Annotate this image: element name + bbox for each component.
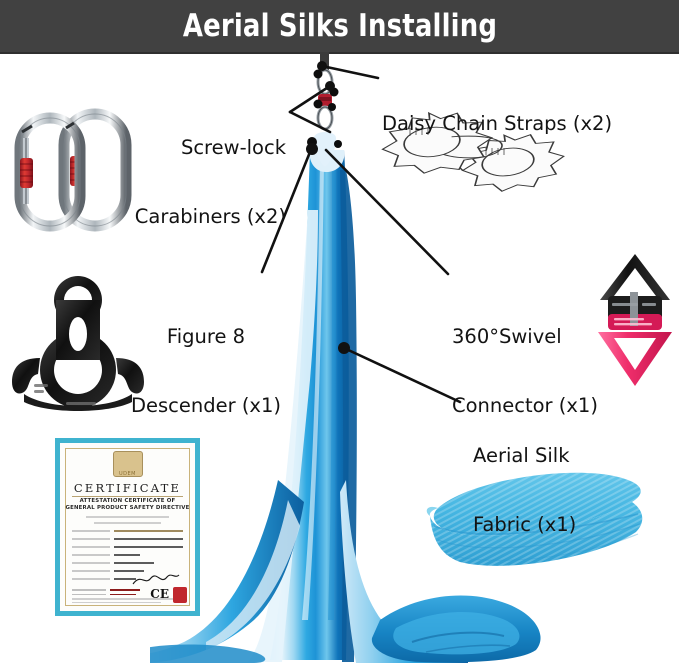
label-aerial-silk-fabric: Aerial Silk Fabric (x1)	[473, 398, 576, 582]
certificate-brand: UDEM	[119, 471, 136, 477]
ceiling-rigging-assembly	[296, 52, 352, 167]
certificate-title: CERTIFICATE	[60, 481, 195, 495]
label-screw-lock-carabiners-line1: Screw-lock	[110, 136, 286, 159]
label-figure-8-descender-line2: Descender (x1)	[126, 394, 286, 417]
label-daisy-chain-straps: Daisy Chain Straps (x2)	[382, 66, 612, 181]
certificate-subtitle-line1: ATTESTATION CERTIFICATE OF	[60, 498, 195, 504]
label-aerial-silk-fabric-line1: Aerial Silk	[473, 444, 576, 467]
certificate-seal	[173, 587, 187, 603]
header-bar: Aerial Silks Installing	[0, 0, 679, 54]
label-daisy-chain-straps-line1: Daisy Chain Straps (x2)	[382, 112, 612, 135]
swivel-connector-photo	[592, 252, 678, 388]
label-screw-lock-carabiners: Screw-lock Carabiners (x2)	[110, 90, 286, 274]
certificate-subtitle-line2: GENERAL PRODUCT SAFETY DIRECTIVE	[60, 505, 195, 511]
label-figure-8-descender-line1: Figure 8	[126, 325, 286, 348]
label-screw-lock-carabiners-line2: Carabiners (x2)	[110, 205, 286, 228]
infographic-canvas: Aerial Silks Installing	[0, 0, 679, 663]
label-swivel-connector-line1: 360°Swivel	[452, 325, 598, 348]
safety-certificate-photo: UDEM CERTIFICATE ATTESTATION CERTIFICATE…	[55, 438, 200, 616]
label-figure-8-descender: Figure 8 Descender (x1)	[126, 279, 286, 463]
page-title: Aerial Silks Installing	[182, 8, 496, 44]
ce-mark: CE	[150, 587, 169, 601]
label-aerial-silk-fabric-line2: Fabric (x1)	[473, 513, 576, 536]
